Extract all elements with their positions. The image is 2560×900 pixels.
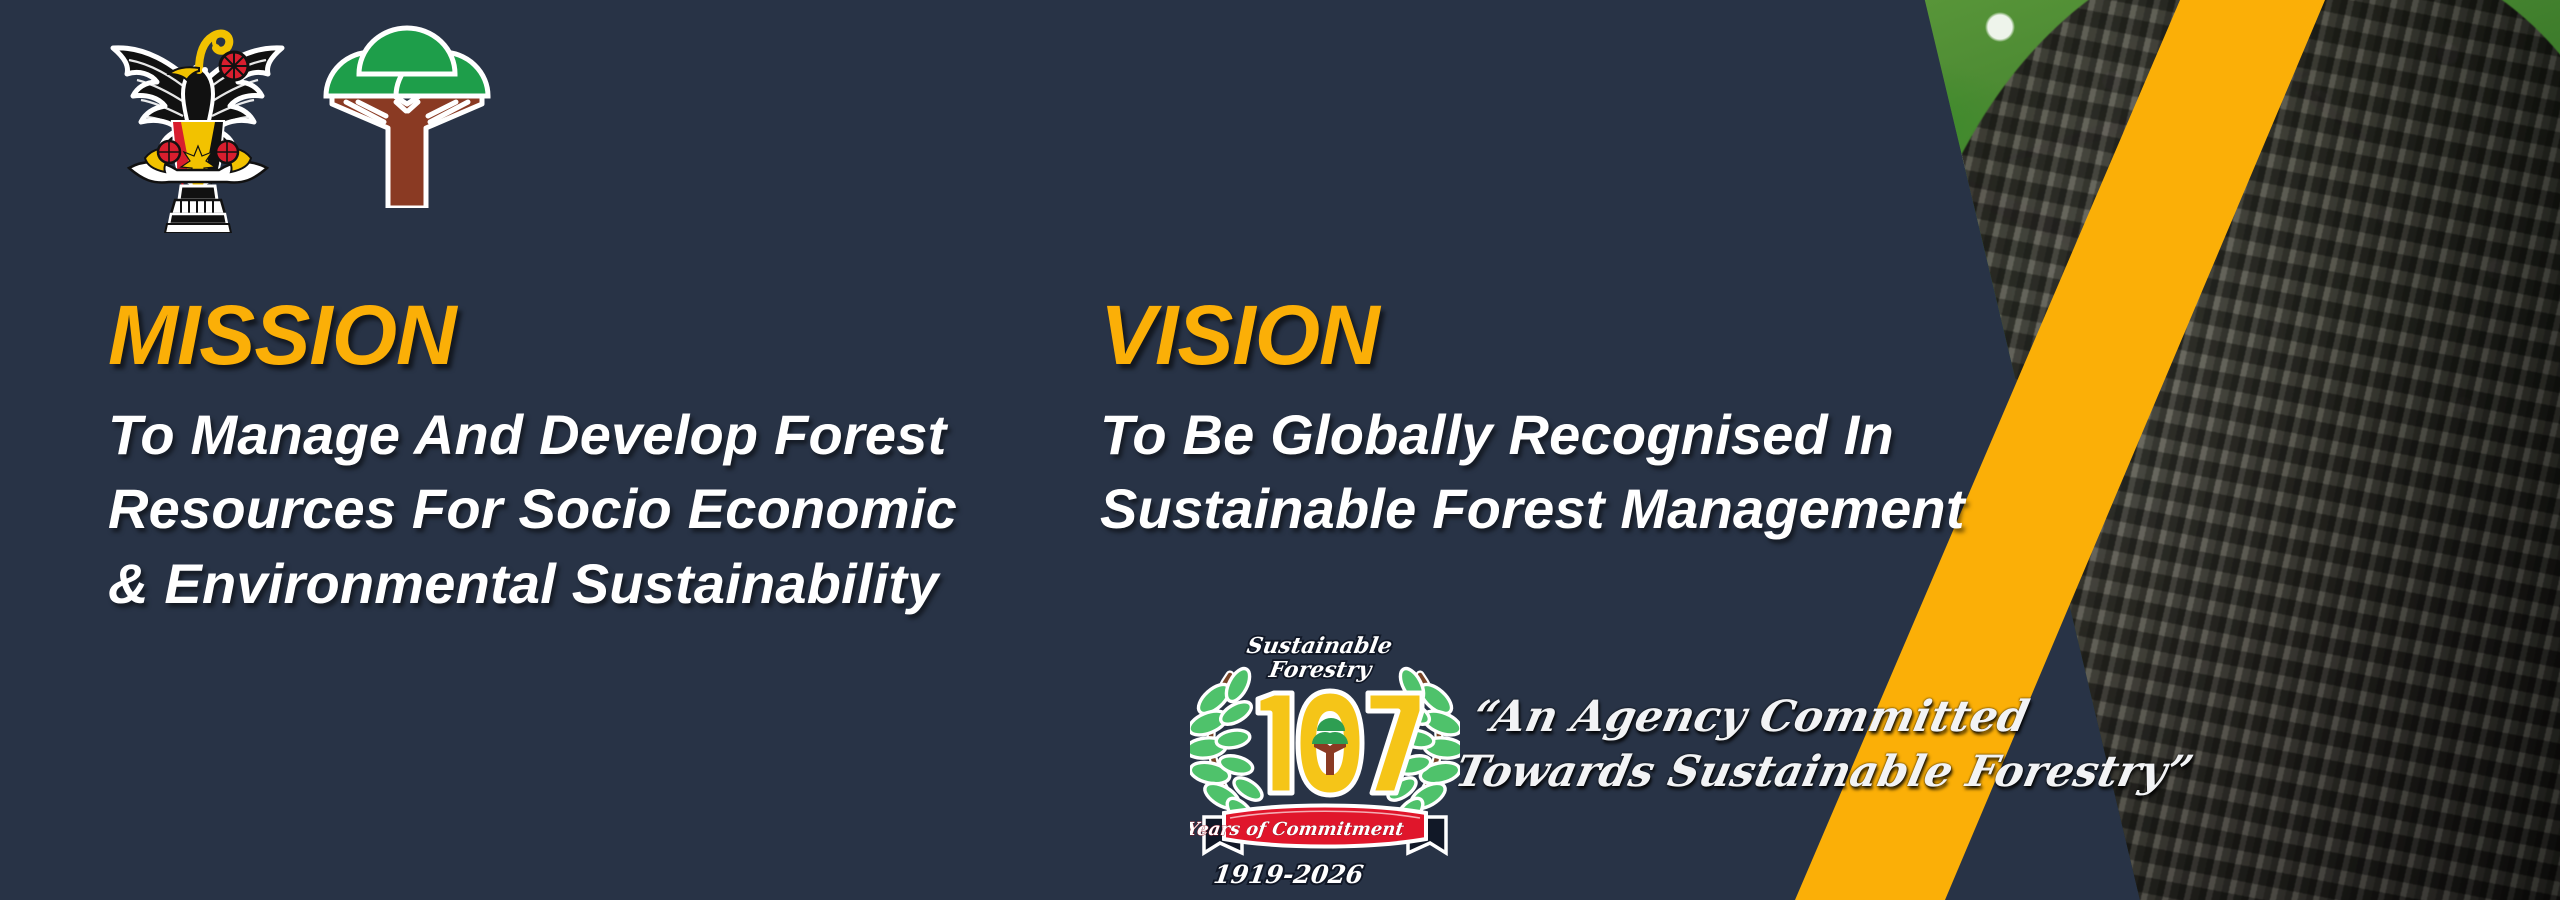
mission-line-3: & Environmental Sustainability [108,547,1068,621]
mission-heading: MISSION [108,296,1068,376]
vision-line-2: Sustainable Forest Management [1100,472,2100,546]
emblem-top-line-2: Forestry [1266,657,1375,683]
mission-line-1: To Manage And Develop Forest [108,398,1068,472]
tagline-line-2: Towards Sustainable Forestry” [1450,745,2088,800]
emblem-ribbon-text: Years of Commitment [1190,819,1406,840]
mission-vision-banner: MISSION To Manage And Develop Forest Res… [0,0,2560,900]
mission-block: MISSION To Manage And Develop Forest Res… [108,296,1068,621]
agency-tagline: “An Agency Committed Towards Sustainable… [1456,690,2099,800]
anniversary-107-emblem: Sustainable Forestry [1190,615,1460,890]
forest-department-tree-logo-icon [322,18,492,208]
vision-text: To Be Globally Recognised In Sustainable… [1100,398,2100,547]
logo-group [95,18,492,233]
emblem-years: 1919-2026 [1212,859,1366,889]
vision-line-1: To Be Globally Recognised In [1100,398,2100,472]
mission-text: To Manage And Develop Forest Resources F… [108,398,1068,621]
sarawak-coat-of-arms-icon [95,18,300,233]
vision-heading: VISION [1100,296,2100,376]
vision-block: VISION To Be Globally Recognised In Sust… [1100,296,2100,547]
tagline-line-1: “An Agency Committed [1468,690,2100,745]
emblem-top-line-1: Sustainable [1245,633,1394,659]
mission-line-2: Resources For Socio Economic [108,472,1068,546]
